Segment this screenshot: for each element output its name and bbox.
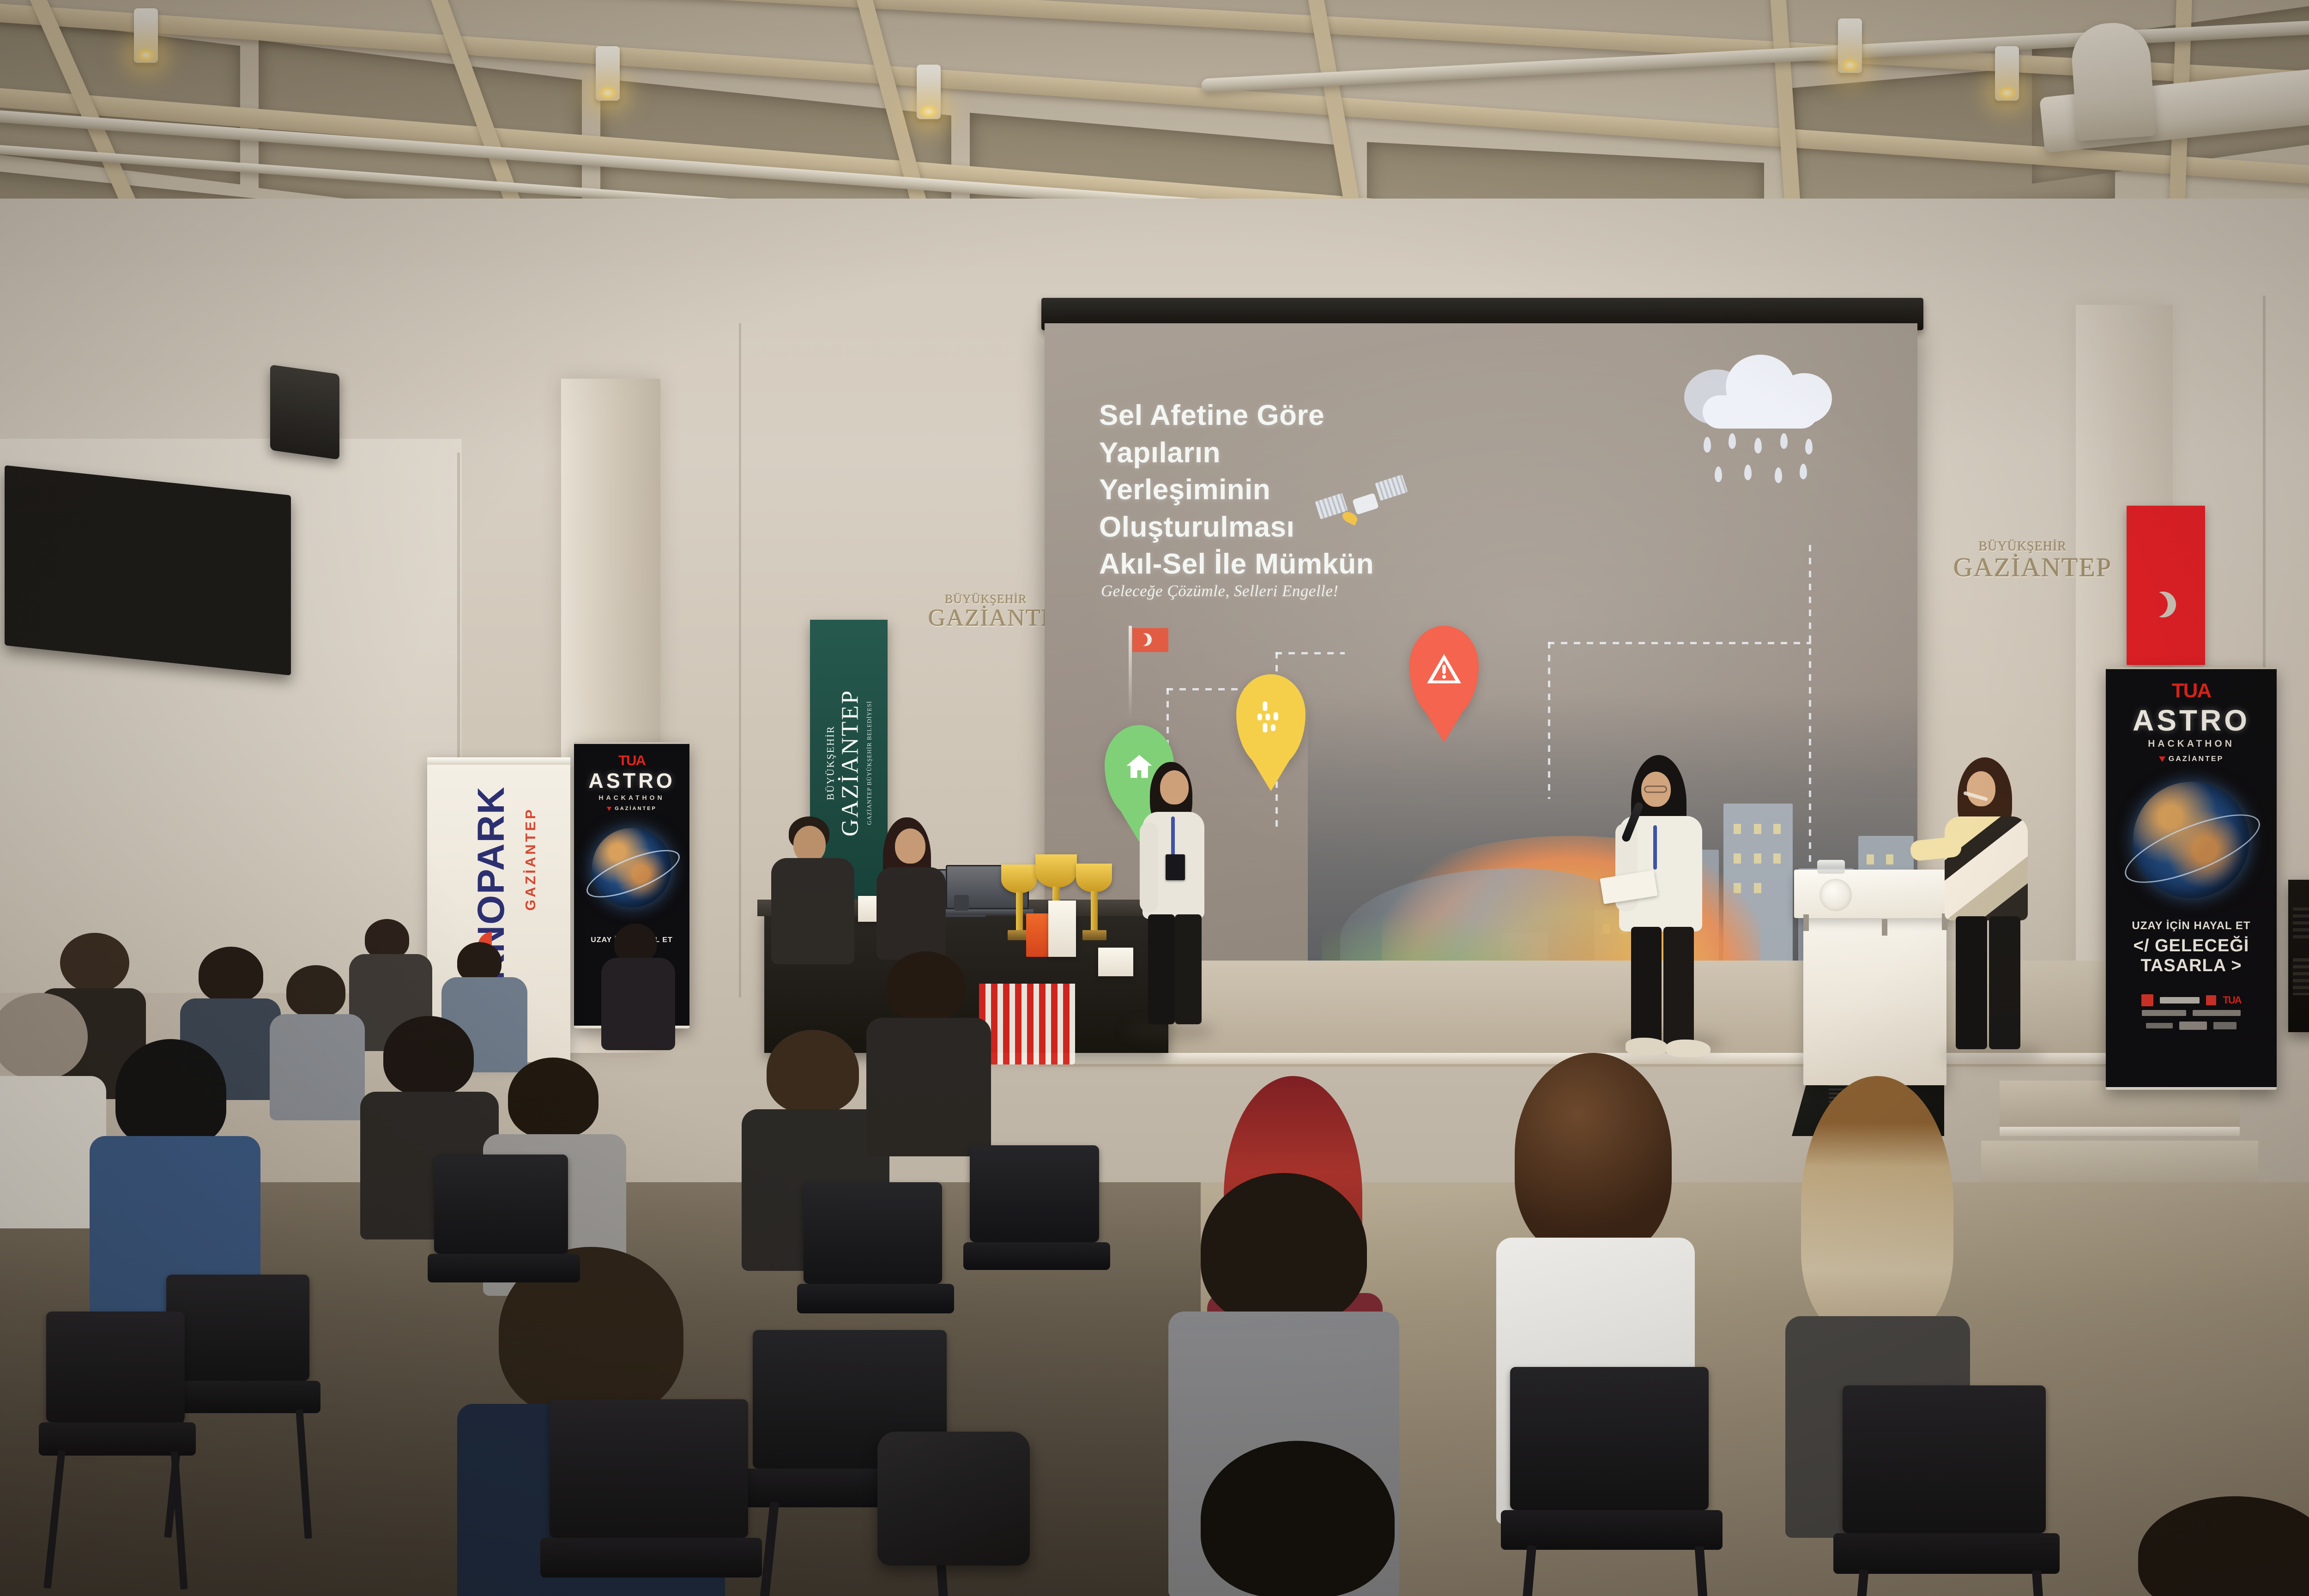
wall-logo-left-line1: BÜYÜKŞEHİR <box>928 593 1044 605</box>
name-badge <box>1166 854 1185 880</box>
av-rack-panel <box>2293 958 2309 995</box>
slide-title-line-1: Sel Afetine Göre <box>1099 397 1385 435</box>
auditorium-scene: BÜYÜKŞEHİR GAZİANTEP BÜYÜKŞEHİR GAZİANTE… <box>0 0 2309 1596</box>
slide-title-line-3: Yerleşiminin <box>1099 472 1385 509</box>
municipality-banner-line1: BÜYÜKŞEHİR <box>825 689 837 837</box>
ceiling-spotlight <box>596 46 620 101</box>
wall-logo-right-line2: GAZİANTEP <box>1953 554 2092 581</box>
city-label-left: GAZİANTEP <box>607 806 657 811</box>
av-rack-panel <box>2293 907 2309 940</box>
medals-hanging <box>979 984 1075 1064</box>
certificate-stack <box>1048 901 1076 957</box>
wall-display-panel <box>5 465 291 675</box>
earth-globe-icon-left <box>592 828 671 907</box>
slide-title-line-5: Akıl-Sel İle Mümkün <box>1099 546 1385 583</box>
municipality-banner-line2: GAZİANTEP <box>837 689 864 837</box>
table-cup <box>954 895 969 911</box>
wall-speaker <box>270 364 339 459</box>
ceiling-spotlight <box>134 8 158 63</box>
slide-flagpole <box>1129 626 1132 718</box>
location-pin-icon <box>2159 756 2165 762</box>
ceiling-spotlight <box>1838 18 1862 73</box>
backpack <box>877 1432 1030 1566</box>
blonde-hair <box>1801 1076 1953 1335</box>
slogan-line1-right: UZAY İÇİN HAYAL ET <box>2132 919 2250 932</box>
curly-hair <box>1515 1053 1672 1256</box>
tua-logo-right: TUA <box>2172 679 2211 702</box>
location-pin-icon-left <box>607 807 611 811</box>
astro-banner-right: TUA ASTRO HACKATHON GAZİANTEP UZAY İÇİN … <box>2106 667 2277 1090</box>
astro-title-right: ASTRO <box>2133 703 2250 738</box>
wall-logo-left: BÜYÜKŞEHİR GAZİANTEP <box>928 593 1044 630</box>
certificate-frame <box>1098 948 1133 976</box>
hackathon-subtitle-right: HACKATHON <box>2148 738 2235 750</box>
slide-title: Sel Afetine Göre Yapıların Yerleşiminin … <box>1099 397 1385 583</box>
hood <box>115 1039 226 1145</box>
av-equipment-rack <box>2288 880 2309 1032</box>
city-label-right: GAZİANTEP <box>2159 755 2224 763</box>
podium-top <box>1794 870 1956 918</box>
rain-cloud-icon <box>1684 351 1837 448</box>
hackathon-subtitle-left: HACKATHON <box>598 794 665 801</box>
astro-title-left: ASTRO <box>588 769 675 793</box>
wall-logo-left-line2: GAZİANTEP <box>928 606 1044 630</box>
award-box <box>1026 913 1048 957</box>
wall-logo-right-line1: BÜYÜKŞEHİR <box>1953 540 2092 553</box>
slogan-line3-right: TASARLA > <box>2140 956 2242 976</box>
sponsor-logos-right: TUA <box>2122 994 2261 1006</box>
podium <box>1803 891 1946 1085</box>
eyeglasses <box>1644 786 1667 793</box>
wall-logo-right: BÜYÜKŞEHİR GAZİANTEP <box>1953 540 2092 581</box>
slide-title-line-4: Oluşturulması <box>1099 509 1385 546</box>
ceiling-spotlight <box>1995 46 2019 101</box>
earth-globe-icon <box>2133 782 2249 898</box>
slide-subtitle: Geleceğe Çözümle, Selleri Engelle! <box>1101 582 1396 600</box>
ceiling-spotlight <box>917 65 941 119</box>
podium-water-glass <box>1817 860 1845 874</box>
municipality-banner-line3: GAZİANTEP BÜYÜKŞEHİR BELEDİYESİ <box>866 689 873 837</box>
turkish-flag-banner <box>2127 506 2205 665</box>
podium-logo-badge <box>1819 879 1852 911</box>
turkish-flag-icon <box>1132 628 1168 652</box>
teknopark-banner-sub: GAZİANTEP <box>522 807 539 911</box>
slide-title-line-2: Yapıların <box>1099 435 1385 472</box>
slogan-line2-right: </ GELECEĞİ <box>2134 936 2249 956</box>
tua-logo-left: TUA <box>618 752 645 769</box>
